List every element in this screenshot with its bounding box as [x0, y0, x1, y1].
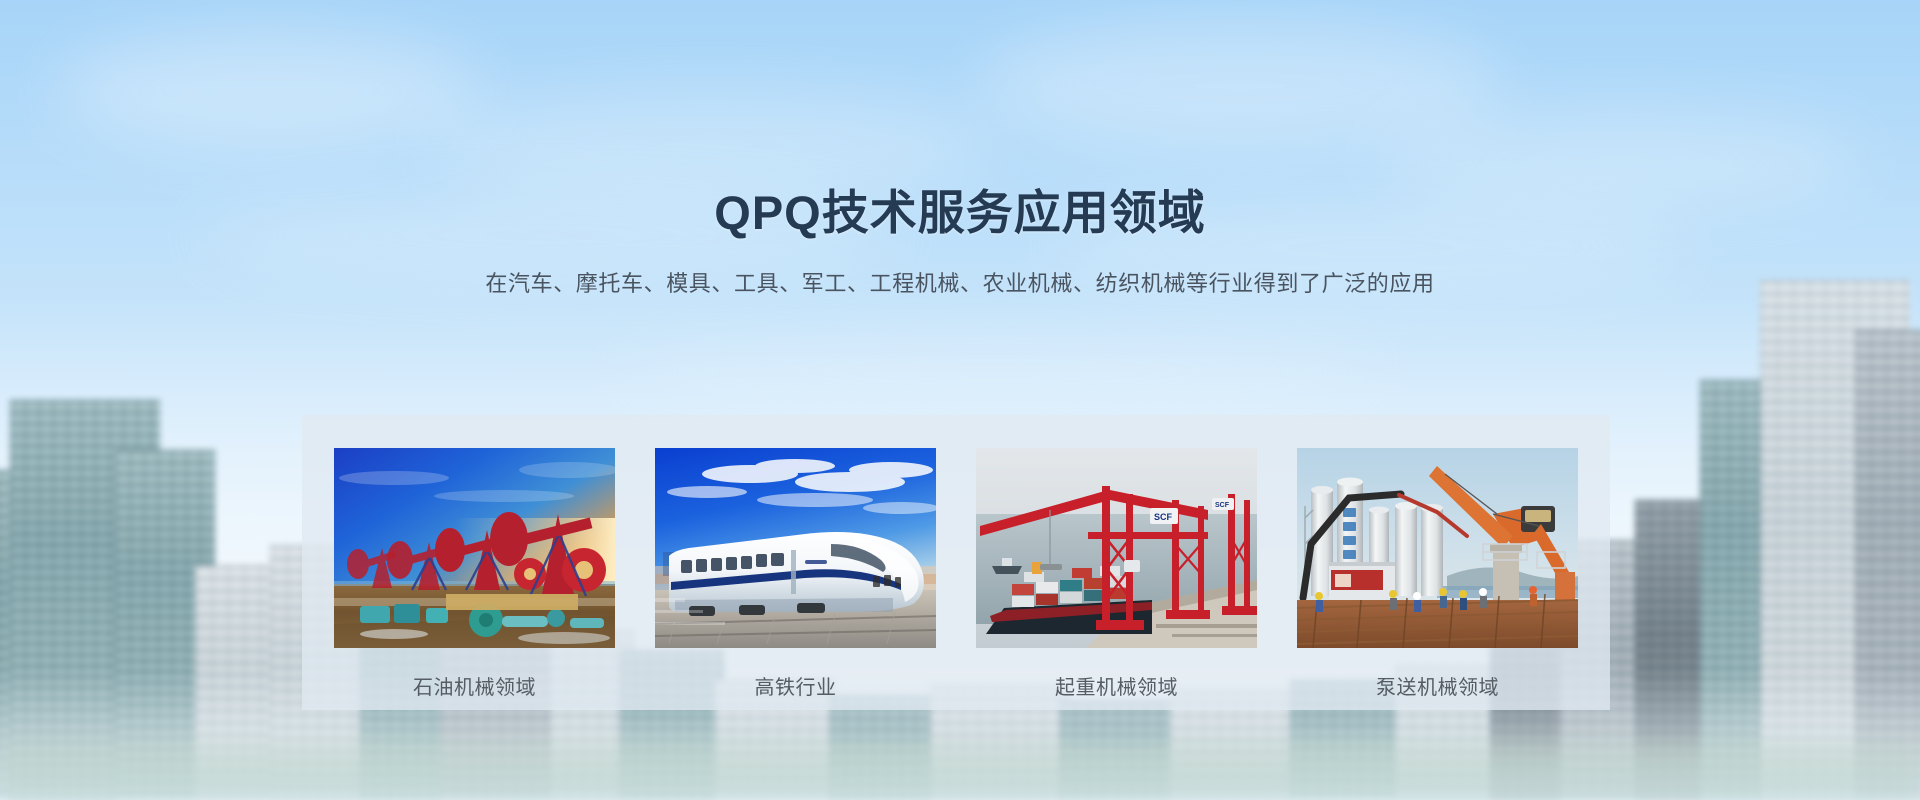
- cloud: [60, 30, 480, 150]
- oil-pumpjacks-image[interactable]: [334, 448, 615, 648]
- list-item-label: 高铁行业: [655, 676, 936, 700]
- list-item-label: 石油机械领域: [334, 676, 615, 700]
- list-item[interactable]: 泵送机械领域: [1297, 448, 1578, 700]
- concrete-pump-illustration: [1297, 448, 1578, 648]
- list-item[interactable]: 高铁行业: [655, 448, 936, 700]
- high-speed-train-image[interactable]: [655, 448, 936, 648]
- svg-text:SCF: SCF: [1215, 502, 1230, 509]
- list-item[interactable]: SCF SCF 起重机械领: [976, 448, 1257, 700]
- page-subtitle: 在汽车、摩托车、模具、工具、军工、工程机械、农业机械、纺织机械等行业得到了广泛的…: [0, 269, 1920, 300]
- high-speed-train-illustration: [655, 448, 936, 648]
- list-item[interactable]: 石油机械领域: [334, 448, 615, 700]
- port-cranes-image[interactable]: SCF SCF: [976, 448, 1257, 648]
- concrete-pump-image[interactable]: [1297, 448, 1578, 648]
- list-item-label: 起重机械领域: [976, 676, 1257, 700]
- card-list: 石油机械领域: [334, 448, 1578, 700]
- page-title: QPQ技术服务应用领域: [0, 186, 1920, 241]
- oil-pumpjacks-illustration: [334, 448, 615, 648]
- port-cranes-illustration: SCF SCF: [976, 448, 1257, 648]
- list-item-label: 泵送机械领域: [1297, 676, 1578, 700]
- application-fields-panel: 石油机械领域: [302, 415, 1610, 710]
- heading-group: QPQ技术服务应用领域 在汽车、摩托车、模具、工具、军工、工程机械、农业机械、纺…: [0, 186, 1920, 299]
- cloud: [430, 90, 990, 200]
- svg-text:SCF: SCF: [1154, 512, 1173, 522]
- hero-banner: QPQ技术服务应用领域 在汽车、摩托车、模具、工具、军工、工程机械、农业机械、纺…: [0, 0, 1920, 800]
